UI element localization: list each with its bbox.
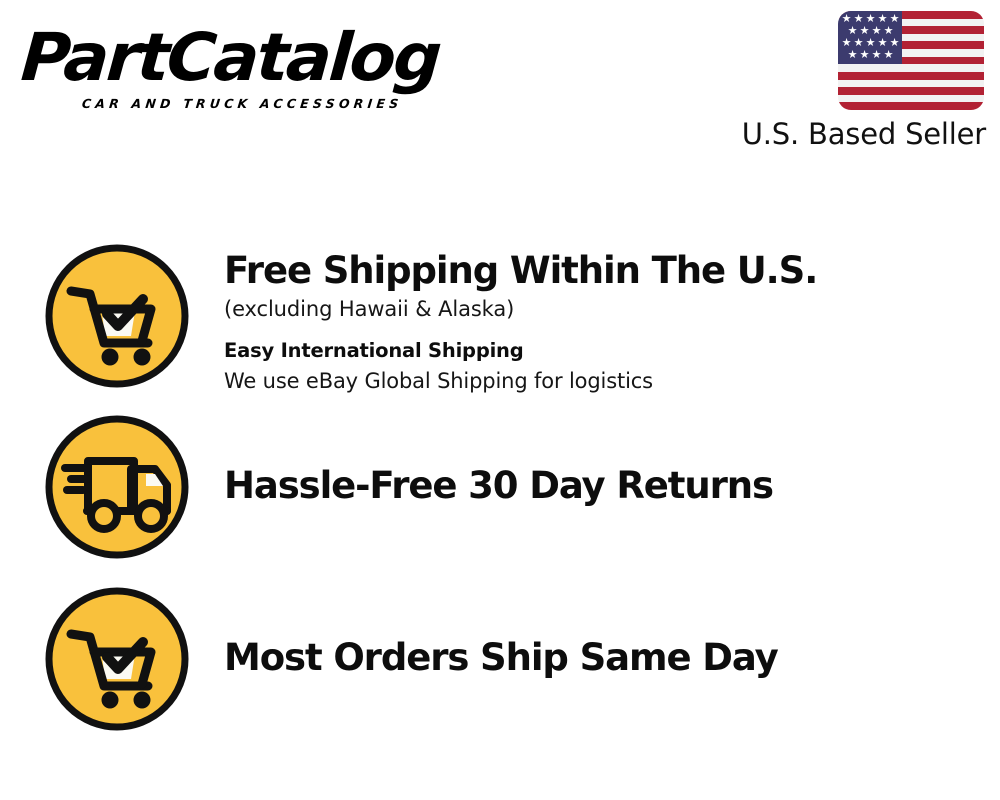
brand-wordmark: PartCatalog [19, 22, 504, 94]
page-header: PartCatalog CAR AND TRUCK ACCESSORIES ★ … [0, 0, 1000, 170]
flag-stripe [838, 64, 984, 72]
shopping-cart-check-icon [43, 242, 191, 390]
flag-stripe [838, 95, 984, 103]
brand-tagline: CAR AND TRUCK ACCESSORIES [81, 96, 403, 111]
flag-stripe [838, 72, 984, 80]
feature-row: Most Orders Ship Same Day [0, 585, 1000, 733]
brand-logo[interactable]: PartCatalog CAR AND TRUCK ACCESSORIES [24, 22, 494, 114]
us-flag-badge: ★ ★ ★ ★ ★ ★ ★ ★ ★ ★ ★ ★ ★ ★ ★ ★ ★ ★ [838, 11, 984, 110]
feature-text-block: Hassle-Free 30 Day Returns [224, 413, 1000, 509]
us-based-seller-label: U.S. Based Seller [742, 117, 986, 151]
flag-canton: ★ ★ ★ ★ ★ ★ ★ ★ ★ ★ ★ ★ ★ ★ ★ ★ ★ ★ [838, 11, 902, 64]
flag-stripe [838, 102, 984, 110]
feature-subtitle: (excluding Hawaii & Alaska) [224, 294, 1000, 325]
shopping-cart-check-icon [43, 585, 191, 733]
feature-secondary-body: We use eBay Global Shipping for logistic… [224, 366, 1000, 397]
feature-title: Hassle-Free 30 Day Returns [224, 463, 1000, 509]
us-flag-icon: ★ ★ ★ ★ ★ ★ ★ ★ ★ ★ ★ ★ ★ ★ ★ ★ ★ ★ [838, 11, 984, 110]
delivery-truck-icon [43, 413, 191, 561]
feature-title: Free Shipping Within The U.S. [224, 248, 1000, 294]
feature-row: Free Shipping Within The U.S. (excluding… [0, 242, 1000, 397]
feature-title: Most Orders Ship Same Day [224, 635, 1000, 681]
feature-secondary-title: Easy International Shipping [224, 336, 1000, 366]
feature-text-block: Most Orders Ship Same Day [224, 585, 1000, 681]
flag-stripe [838, 87, 984, 95]
feature-text-block: Free Shipping Within The U.S. (excluding… [224, 242, 1000, 397]
flag-stripe [838, 80, 984, 88]
feature-row: Hassle-Free 30 Day Returns [0, 413, 1000, 561]
